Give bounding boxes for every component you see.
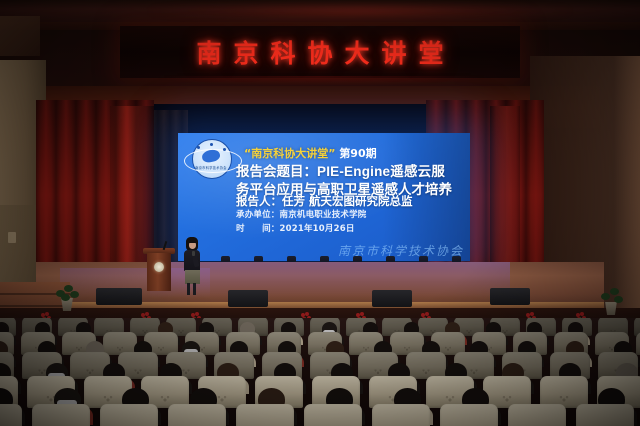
slide-date-line: 时 间：2021年10月26日 xyxy=(236,222,466,234)
auditorium-seat xyxy=(32,404,90,426)
wall-switch-plate xyxy=(8,232,16,243)
emblem-dot xyxy=(197,146,200,149)
seat-cover-logo-icon xyxy=(422,368,431,376)
slide-kicker: “南京科协大讲堂” 第90期 xyxy=(244,145,377,161)
seat-cover-logo-icon xyxy=(103,394,114,404)
auditorium-seat xyxy=(168,404,226,426)
auditorium-seat xyxy=(440,404,498,426)
presenter-on-stage xyxy=(181,237,203,297)
emblem-dot xyxy=(210,143,213,146)
floor-monitor xyxy=(372,290,412,307)
seat-cover-logo-icon xyxy=(182,368,191,376)
slide-kicker-session: 第90期 xyxy=(339,147,376,160)
ceiling-light-glow xyxy=(150,4,570,18)
projection-screen: 南京市科学技术协会 “南京科协大讲堂” 第90期 报告会题目：PIE-Engin… xyxy=(178,133,470,261)
floor-monitor xyxy=(228,290,268,307)
presenter-skirt xyxy=(185,270,200,284)
auditorium-seat xyxy=(304,404,362,426)
floor-monitor xyxy=(490,288,530,305)
auditorium-seat xyxy=(636,332,640,355)
side-wall-right-highlight xyxy=(614,56,640,320)
seat-cover-logo-icon xyxy=(157,346,165,353)
seat-cover-logo-icon xyxy=(502,394,513,404)
slide-title-label: 报告会题目： xyxy=(236,164,317,180)
slide-title-line1: PIE-Engine遥感云服 xyxy=(317,164,445,179)
plant-leaf xyxy=(70,291,79,298)
presenter-fringe xyxy=(186,237,198,243)
seat-cover-logo-icon xyxy=(134,368,143,376)
seat-cover-logo-icon xyxy=(470,368,479,376)
slide-organizer-line: 承办单位：南京机电职业技术学院 xyxy=(236,208,466,220)
plant-leaf xyxy=(601,293,610,300)
potted-plant xyxy=(600,286,624,316)
auditorium-seat xyxy=(372,404,430,426)
podium-body xyxy=(147,253,171,291)
plant-pot xyxy=(604,302,618,315)
seat-cover-logo-icon xyxy=(374,368,383,376)
auditorium-seat xyxy=(508,404,566,426)
plant-leaf xyxy=(61,294,70,301)
association-emblem-icon: 南京市科学技术协会 xyxy=(184,137,240,177)
emblem-caption: 南京市科学技术协会 xyxy=(194,165,228,170)
potted-plant xyxy=(56,282,80,312)
presenter-legs xyxy=(187,283,197,295)
emblem-dot xyxy=(223,148,226,151)
led-banner: 南京科协大讲堂 xyxy=(120,26,520,78)
slide-speaker-line: 报告人：任芳 航天宏图研究院总监 xyxy=(236,193,466,209)
seat-cover-logo-icon xyxy=(86,368,95,376)
seat-cover-logo-icon xyxy=(178,329,185,335)
auditorium-seat xyxy=(406,352,446,379)
auditorium-photo: 南京科协大讲堂 南京市科学技术协会 “南京科协大讲堂” 第90期 xyxy=(0,0,640,426)
banner-glow xyxy=(150,76,490,86)
speaking-podium xyxy=(146,248,172,294)
auditorium-seat xyxy=(100,404,158,426)
plant-leaf xyxy=(610,288,619,295)
seat-cover-logo-icon xyxy=(217,394,228,404)
seat-cover-logo-icon xyxy=(445,394,456,404)
wall-corner-left xyxy=(0,16,40,56)
auditorium-seat xyxy=(236,404,294,426)
audience-seating-rows xyxy=(0,318,640,426)
seat-cover-logo-icon xyxy=(160,394,171,404)
seat-cover-logo-icon xyxy=(444,346,452,353)
auditorium-seat xyxy=(576,404,634,426)
auditorium-seat xyxy=(0,404,22,426)
handheld-microphone-icon xyxy=(192,251,195,256)
slide-kicker-highlight: “南京科协大讲堂” xyxy=(244,147,335,160)
podium-emblem-icon xyxy=(154,262,164,272)
seat-cover-logo-icon xyxy=(466,329,473,335)
plant-leaf xyxy=(614,296,623,303)
led-banner-text: 南京科协大讲堂 xyxy=(184,34,455,70)
floor-monitor xyxy=(96,288,142,305)
seat-cover-logo-icon xyxy=(559,394,570,404)
